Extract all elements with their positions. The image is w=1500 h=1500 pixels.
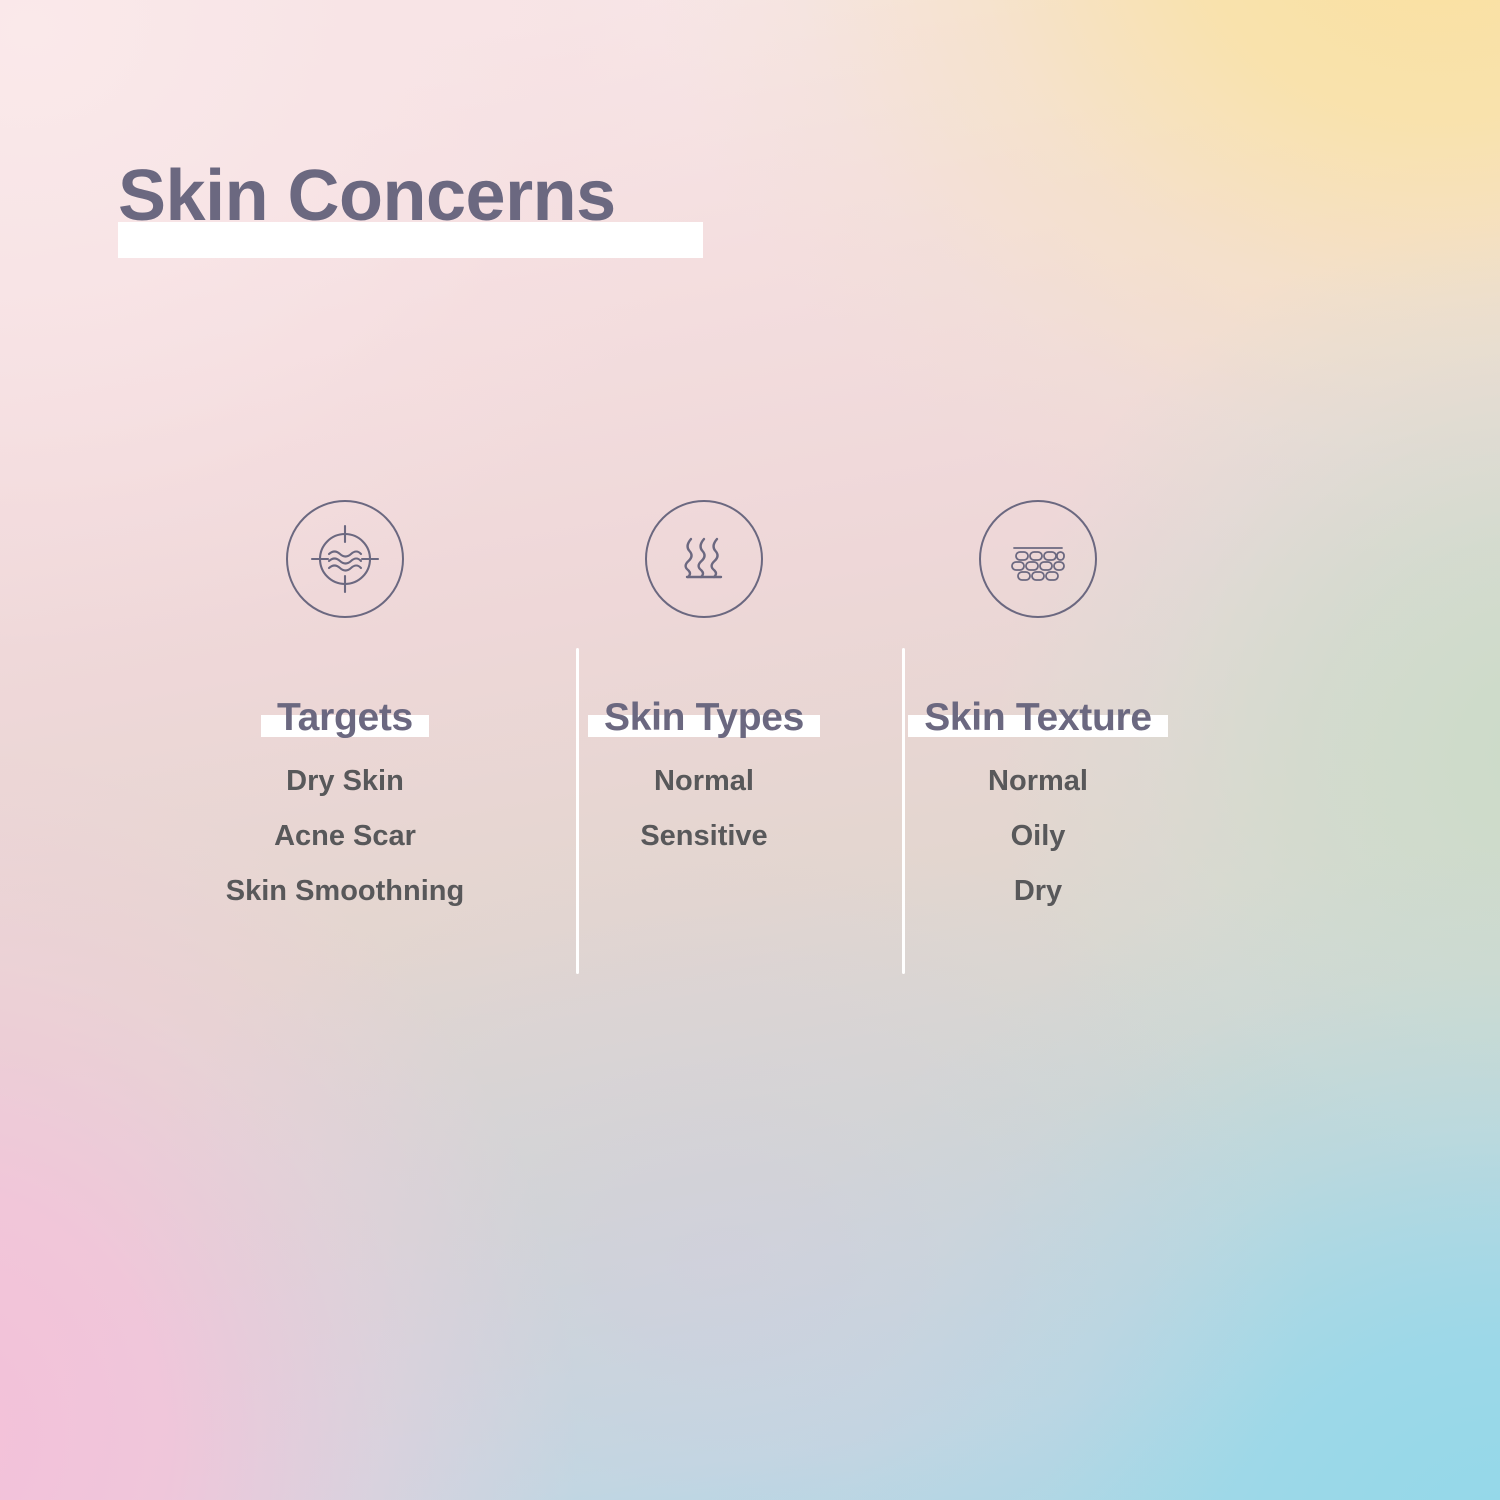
column-list-skin-texture: Normal Oily Dry bbox=[988, 767, 1088, 906]
column-list-skin-types: Normal Sensitive bbox=[640, 767, 767, 851]
column-heading-targets: Targets bbox=[277, 698, 413, 739]
column-heading-text: Skin Types bbox=[604, 698, 804, 739]
page-title-text: Skin Concerns bbox=[118, 160, 616, 232]
list-item: Oily bbox=[1011, 822, 1066, 851]
target-waves-icon bbox=[286, 500, 404, 618]
list-item: Normal bbox=[988, 767, 1088, 796]
list-item: Dry Skin bbox=[286, 767, 404, 796]
columns-container: Targets Dry Skin Acne Scar Skin Smoothni… bbox=[150, 500, 1350, 906]
list-item: Sensitive bbox=[640, 822, 767, 851]
column-heading-text: Skin Texture bbox=[924, 698, 1152, 739]
column-targets: Targets Dry Skin Acne Scar Skin Smoothni… bbox=[150, 500, 540, 906]
page-title: Skin Concerns bbox=[118, 160, 616, 232]
list-item: Skin Smoothning bbox=[226, 877, 464, 906]
column-heading-text: Targets bbox=[277, 698, 413, 739]
skin-waves-icon bbox=[645, 500, 763, 618]
column-skin-texture: Skin Texture Normal Oily Dry bbox=[868, 500, 1208, 906]
column-skin-types: Skin Types Normal Sensitive bbox=[540, 500, 868, 851]
list-item: Dry bbox=[1014, 877, 1062, 906]
skin-concerns-poster: Skin Concerns Targets bbox=[0, 0, 1500, 1500]
column-list-targets: Dry Skin Acne Scar Skin Smoothning bbox=[226, 767, 464, 906]
column-heading-skin-texture: Skin Texture bbox=[924, 698, 1152, 739]
list-item: Acne Scar bbox=[274, 822, 416, 851]
column-heading-skin-types: Skin Types bbox=[604, 698, 804, 739]
list-item: Normal bbox=[654, 767, 754, 796]
skin-layers-icon bbox=[979, 500, 1097, 618]
